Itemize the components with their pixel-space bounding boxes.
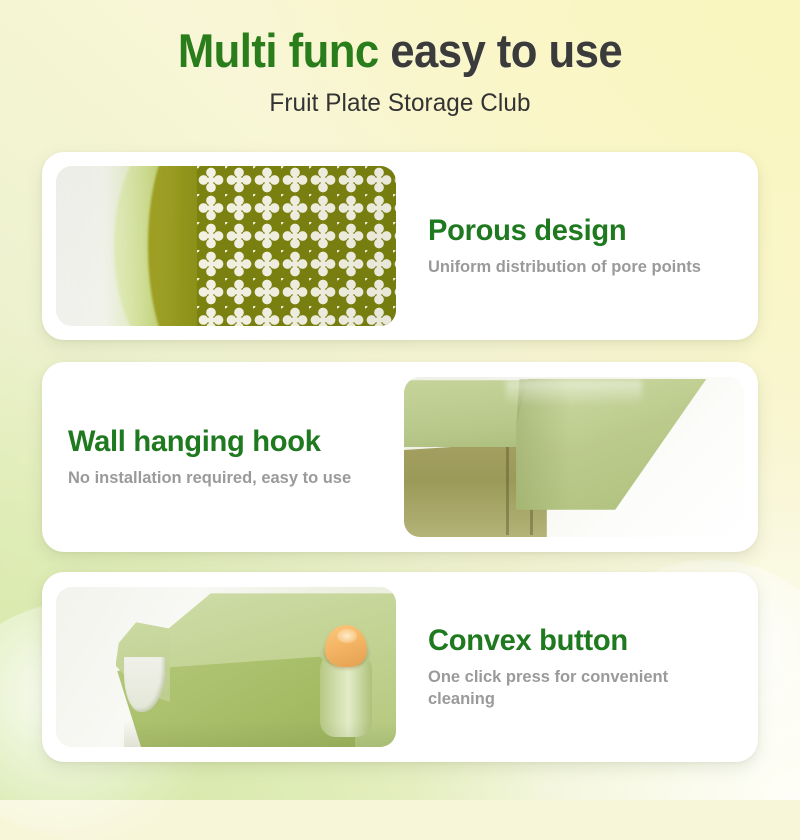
perforation-pattern	[197, 166, 396, 326]
infographic-page: Multi func easy to use Fruit Plate Stora…	[0, 0, 800, 800]
feature-text-convex-button: Convex button One click press for conven…	[410, 624, 758, 710]
feature-text-wall-hanging-hook: Wall hanging hook No installation requir…	[42, 425, 390, 489]
feature-card-convex-button: Convex button One click press for conven…	[42, 572, 758, 762]
page-title: Multi func easy to use	[28, 26, 772, 77]
feature-card-wall-hanging-hook: Wall hanging hook No installation requir…	[42, 362, 758, 552]
feature-card-porous-design: Porous design Uniform distribution of po…	[42, 152, 758, 340]
feature-title: Porous design	[428, 214, 731, 247]
orange-button-highlight	[337, 629, 357, 643]
hook-photo-seam-1	[506, 446, 509, 536]
wall-hook-photo	[404, 377, 744, 537]
hook-photo-highlight	[506, 380, 642, 406]
header: Multi func easy to use Fruit Plate Stora…	[0, 26, 800, 118]
page-title-spacer	[379, 24, 391, 77]
feature-title: Convex button	[428, 624, 731, 657]
porous-panel-photo	[56, 166, 396, 326]
page-title-dark: easy to use	[390, 24, 622, 77]
button-photo-shadow	[124, 721, 396, 747]
feature-description: Uniform distribution of pore points	[428, 256, 719, 278]
feature-description: No installation required, easy to use	[68, 467, 359, 489]
convex-button-photo	[56, 587, 396, 747]
feature-title: Wall hanging hook	[68, 425, 363, 458]
feature-text-porous-design: Porous design Uniform distribution of po…	[410, 214, 758, 278]
page-subtitle: Fruit Plate Storage Club	[12, 89, 788, 118]
page-title-green: Multi func	[178, 24, 379, 77]
feature-description: One click press for convenient cleaning	[428, 666, 729, 710]
